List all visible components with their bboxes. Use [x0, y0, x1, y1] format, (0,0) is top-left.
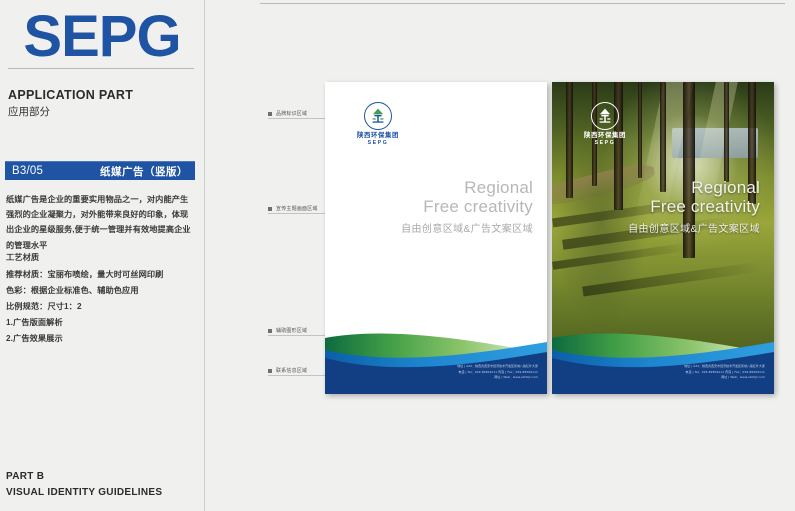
poster-logo-lockup: 陕西环保集团 SEPG	[357, 102, 399, 146]
headline-subline: 自由创意区域&广告文案区域	[401, 220, 533, 235]
callout-label: 宣传主题画面区域	[276, 205, 318, 212]
contact-line: 网址 | Web：www.sxhbjt.com	[684, 375, 765, 381]
sepg-emblem-icon	[591, 102, 619, 130]
spec-list: 工艺材质 推荐材质：宝丽布喷绘，量大时可丝网印刷 色彩：根据企业标准色、辅助色应…	[6, 250, 196, 347]
logo-name-en: SEPG	[595, 141, 616, 146]
poster-headline-block: Regional Free creativity 自由创意区域&广告文案区域	[628, 178, 760, 235]
callout-graphic-area: 辅助图形区域	[268, 327, 307, 334]
callout-theme-area: 宣传主题画面区域	[268, 205, 318, 212]
description-text: 纸媒广告是企业的重要实用物品之一，对内能产生强烈的企业凝聚力，对外能带来良好的印…	[6, 192, 196, 253]
headline-line-1: Regional	[628, 178, 760, 197]
contact-line: 地址 | Add：陕西省西安市经济技术开发区凤城八路红叶大厦	[684, 364, 765, 370]
spec-item: 2.广告效果展示	[6, 331, 196, 347]
callout-bullet-icon	[268, 207, 272, 211]
spec-code: B3/05	[12, 165, 43, 177]
poster-headline-block: Regional Free creativity 自由创意区域&广告文案区域	[401, 178, 533, 235]
logo-name-cn: 陕西环保集团	[357, 133, 399, 139]
spec-item: 比例规范：尺寸1：2	[6, 299, 196, 315]
poster-contact-info: 地址 | Add：陕西省西安市经济技术开发区凤城八路红叶大厦 电话 | Tel：…	[684, 364, 765, 381]
spec-item: 1.广告版面解析	[6, 315, 196, 331]
artboard-stage: 品牌标识区域 宣传主题画面区域 辅助图形区域 联系信息区域	[205, 0, 795, 511]
callout-label: 品牌标识区域	[276, 110, 307, 117]
left-sidebar: SEPG APPLICATION PART 应用部分 B3/05 纸媒广告（竖版…	[0, 0, 205, 511]
section-title-cn: 应用部分	[8, 106, 198, 120]
spec-list-heading: 工艺材质	[6, 250, 196, 266]
page-root: SEPG APPLICATION PART 应用部分 B3/05 纸媒广告（竖版…	[0, 0, 795, 511]
headline-line-1: Regional	[401, 178, 533, 197]
page-footer: PART B VISUAL IDENTITY GUIDELINES	[6, 471, 196, 498]
spec-item: 色彩：根据企业标准色、辅助色应用	[6, 283, 196, 299]
poster-photo-version[interactable]: 陕西环保集团 SEPG Regional Free creativity 自由创…	[552, 82, 774, 394]
spec-item: 推荐材质：宝丽布喷绘，量大时可丝网印刷	[6, 267, 196, 283]
wave-graphic	[552, 324, 774, 394]
logo-name-en: SEPG	[368, 141, 389, 146]
wave-graphic	[325, 324, 547, 394]
contact-line: 网址 | Web：www.sxhbjt.com	[457, 375, 538, 381]
callout-bullet-icon	[268, 369, 272, 373]
headline-line-2: Free creativity	[628, 197, 760, 216]
callout-brand-area: 品牌标识区域	[268, 110, 307, 117]
poster-logo-lockup: 陕西环保集团 SEPG	[584, 102, 626, 146]
section-heading: APPLICATION PART 应用部分	[8, 88, 198, 119]
callout-bullet-icon	[268, 112, 272, 116]
headline-line-2: Free creativity	[401, 197, 533, 216]
footer-guideline-label: VISUAL IDENTITY GUIDELINES	[6, 487, 196, 498]
spec-title: 纸媒广告（竖版）	[100, 164, 188, 179]
footer-part-label: PART B	[6, 471, 196, 482]
callout-contact-area: 联系信息区域	[268, 367, 307, 374]
callout-bullet-icon	[268, 329, 272, 333]
poster-contact-info: 地址 | Add：陕西省西安市经济技术开发区凤城八路红叶大厦 电话 | Tel：…	[457, 364, 538, 381]
headline-subline: 自由创意区域&广告文案区域	[628, 220, 760, 235]
section-title-en: APPLICATION PART	[8, 88, 198, 104]
callout-leader-line	[268, 375, 331, 376]
logo-name-cn: 陕西环保集团	[584, 133, 626, 139]
callout-label: 辅助图形区域	[276, 327, 307, 334]
poster-layout-version[interactable]: 陕西环保集团 SEPG Regional Free creativity 自由创…	[325, 82, 547, 394]
spec-bar: B3/05 纸媒广告（竖版）	[5, 161, 195, 180]
contact-line: 地址 | Add：陕西省西安市经济技术开发区凤城八路红叶大厦	[457, 364, 538, 370]
brand-divider	[8, 68, 194, 69]
sepg-emblem-icon	[364, 102, 392, 130]
brand-wordmark: SEPG	[23, 8, 180, 66]
callout-label: 联系信息区域	[276, 367, 307, 374]
brand-logo: SEPG	[8, 2, 196, 72]
top-divider	[260, 3, 785, 4]
